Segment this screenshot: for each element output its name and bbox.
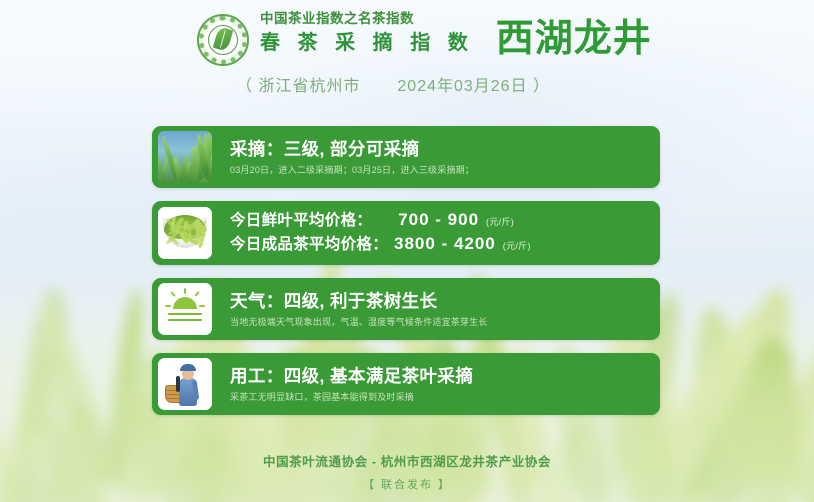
fresh-leaf-price-label: 今日鲜叶平均价格： [230,210,372,231]
card-weather-desc: 当地无极端天气现象出现，气温、湿度等气候条件适宜茶芽生长 [230,315,660,328]
tea-leaf-emblem-icon [196,13,250,67]
paren-close: ） [533,78,550,95]
sunrise-weather-icon [158,283,212,335]
header-date: 2024年03月26日 [397,78,527,95]
header-location: 浙江省杭州市 [258,78,360,95]
index-card-list: 采摘：三级, 部分可采摘 03月20日，进入二级采摘期；03月25日，进入三级采… [152,126,660,428]
title-block: 中国茶业指数之名茶指数 春 茶 采 摘 指 数 西湖龙井 [260,10,652,59]
card-labor-desc: 采茶工无明显缺口，茶园基本能得到及时采摘 [230,390,660,403]
finished-tea-price-label: 今日成品茶平均价格： [230,234,388,255]
header: 中国茶业指数之名茶指数 春 茶 采 摘 指 数 西湖龙井 （ 浙江省杭州市 20… [0,0,814,104]
finished-tea-price-row: 今日成品茶平均价格： 3800 - 4200 (元/斤) [230,233,660,257]
card-picking[interactable]: 采摘：三级, 部分可采摘 03月20日，进入二级采摘期；03月25日，进入三级采… [152,126,660,188]
paren-open: （ [236,78,253,95]
card-weather-title: 天气：四级, 利于茶树生长 [230,290,660,312]
header-index-name: 春 茶 采 摘 指 数 [260,30,474,56]
fresh-leaf-price-unit: (元/斤) [486,212,514,233]
card-labor[interactable]: 用工：四级, 基本满足茶叶采摘 采茶工无明显缺口，茶园基本能得到及时采摘 [152,353,660,415]
card-price[interactable]: 今日鲜叶平均价格： 700 - 900 (元/斤) 今日成品茶平均价格： 380… [152,201,660,265]
footer: 中国茶叶流通协会 - 杭州市西湖区龙井茶产业协会 【 联合发布 】 [0,451,814,492]
tea-leaves-bowl-photo [158,207,212,259]
card-picking-title: 采摘：三级, 部分可采摘 [230,138,660,160]
footer-organizations: 中国茶叶流通协会 - 杭州市西湖区龙井茶产业协会 [0,451,814,470]
card-labor-title: 用工：四级, 基本满足茶叶采摘 [230,365,660,387]
fresh-leaf-price-row: 今日鲜叶平均价格： 700 - 900 (元/斤) [230,209,660,233]
infographic-stage: 中国茶业指数之名茶指数 春 茶 采 摘 指 数 西湖龙井 （ 浙江省杭州市 20… [0,0,814,502]
header-subtitle: （ 浙江省杭州市 2024年03月26日 ） [236,72,550,96]
finished-tea-price-value: 3800 - 4200 [394,233,496,254]
tea-picker-photo [158,358,212,410]
footer-release-note: 【 联合发布 】 [0,476,814,492]
card-weather[interactable]: 天气：四级, 利于茶树生长 当地无极端天气现象出现，气温、湿度等气候条件适宜茶芽… [152,278,660,340]
tea-shoots-photo [158,131,212,183]
card-picking-desc: 03月20日，进入二级采摘期；03月25日，进入三级采摘期； [230,163,660,176]
page-title: 西湖龙井 [496,19,652,59]
fresh-leaf-price-value: 700 - 900 [398,209,479,230]
finished-tea-price-unit: (元/斤) [503,236,531,257]
